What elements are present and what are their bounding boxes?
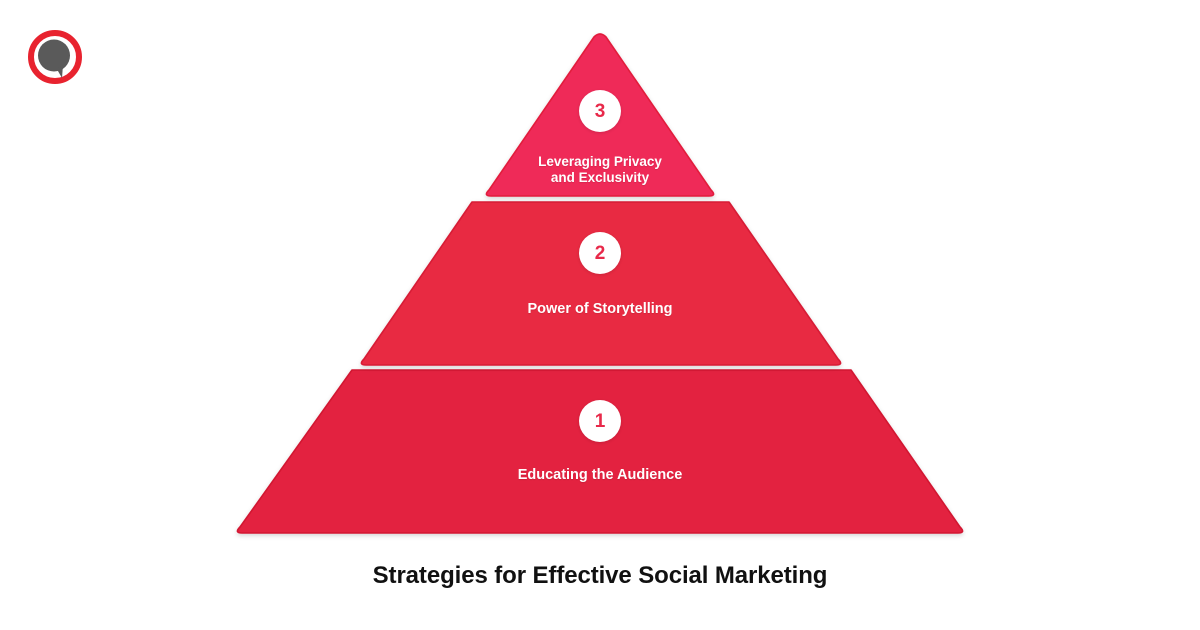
pyramid-diagram: 3 Leveraging Privacy and Exclusivity 2 P… <box>0 0 1200 560</box>
pyramid-tier-top[interactable] <box>0 0 1200 560</box>
chart-title: Strategies for Effective Social Marketin… <box>0 562 1200 590</box>
